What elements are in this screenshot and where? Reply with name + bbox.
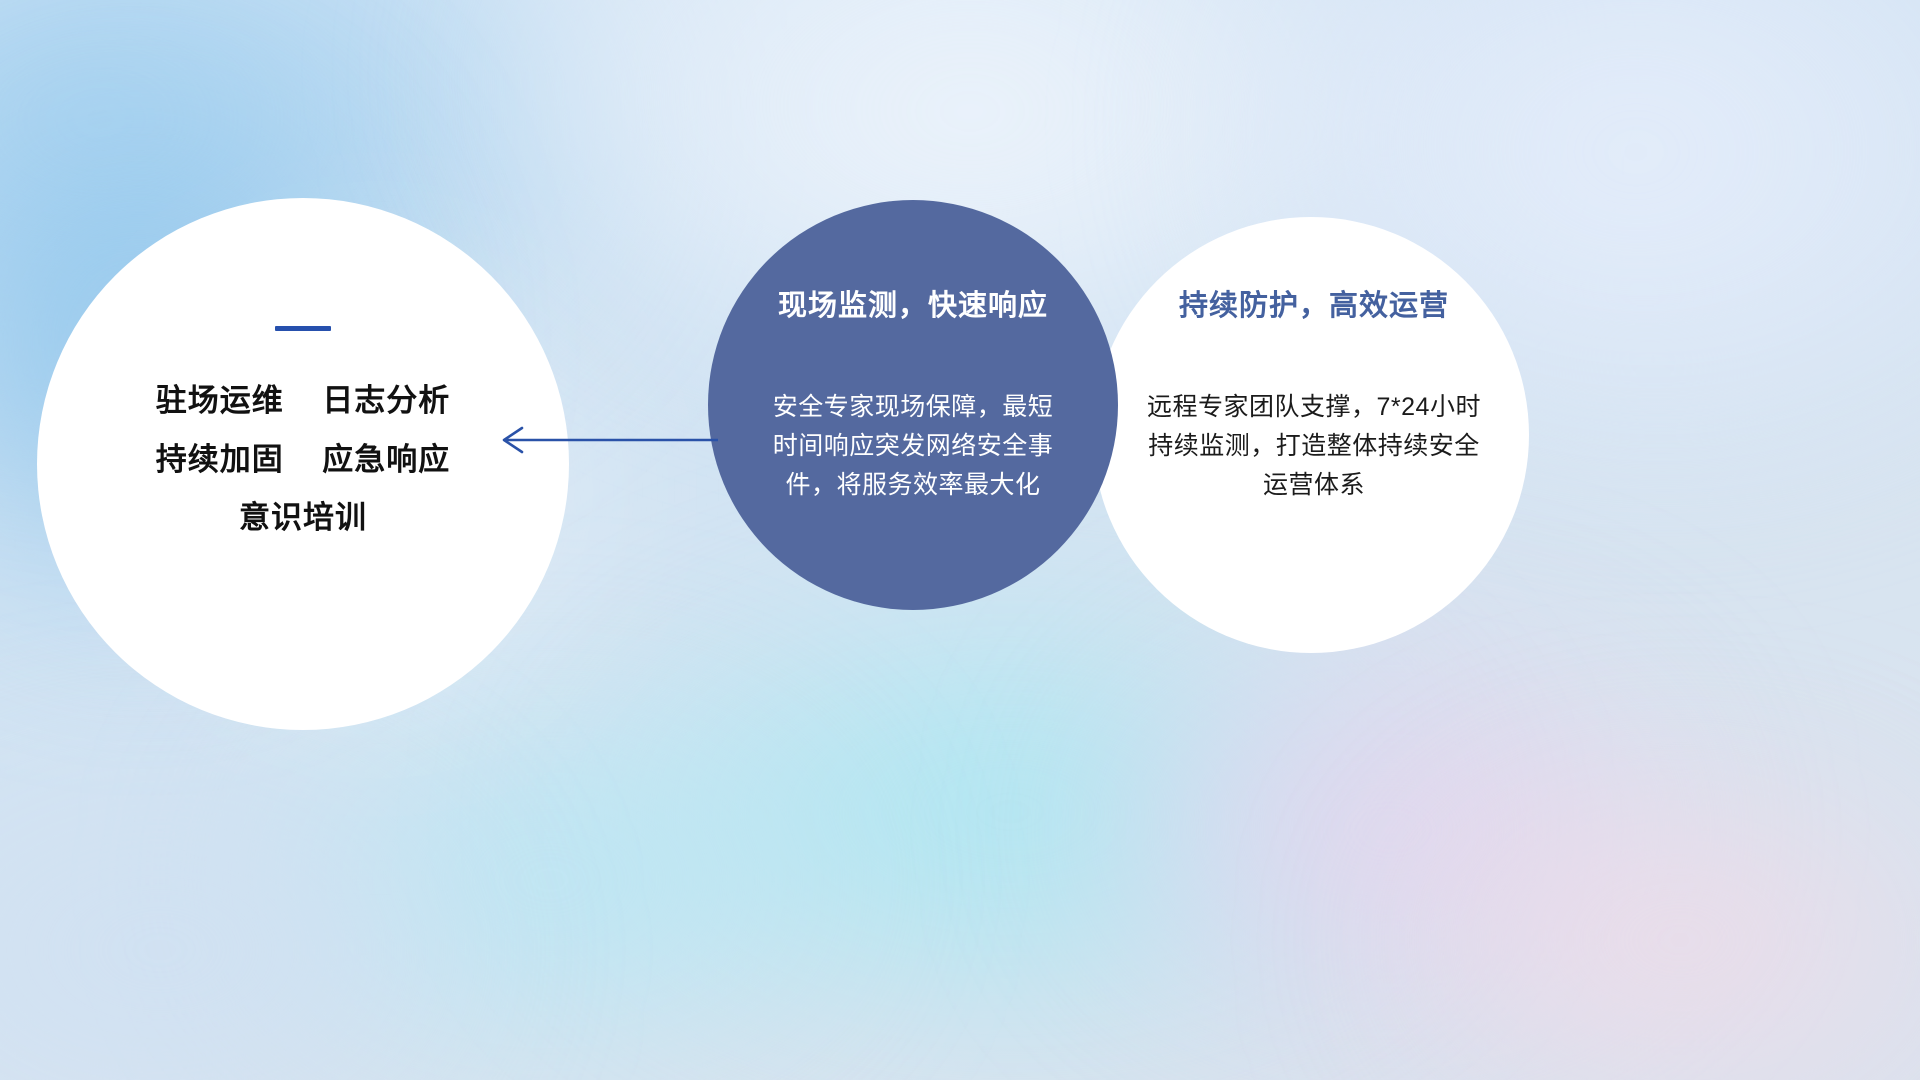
capabilities-list: 驻场运维 日志分析 持续加固 应急响应 意识培训 [156,383,450,537]
continuous-protection-content: 持续防护，高效运营 远程专家团队支撑，7*24小时持续监测，打造整体持续安全运营… [1120,288,1508,505]
capabilities-line-3: 意识培训 [239,500,367,537]
onsite-monitoring-title: 现场监测，快速响应 [778,288,1048,324]
capabilities-line-2: 持续加固 应急响应 [156,442,450,479]
continuous-protection-body: 远程专家团队支撑，7*24小时持续监测，打造整体持续安全运营体系 [1140,388,1488,505]
continuous-protection-title: 持续防护，高效运营 [1179,288,1449,324]
capabilities-line-1: 驻场运维 日志分析 [156,383,450,420]
onsite-monitoring-content: 现场监测，快速响应 安全专家现场保障，最短时间响应突发网络安全事件，将服务效率最… [723,288,1103,505]
divider-dash-icon [275,326,331,331]
slide-canvas: 驻场运维 日志分析 持续加固 应急响应 意识培训 现场监测，快速响应 安全专家现… [0,0,1920,1080]
onsite-monitoring-body: 安全专家现场保障，最短时间响应突发网络安全事件，将服务效率最大化 [763,388,1063,505]
capabilities-circle: 驻场运维 日志分析 持续加固 应急响应 意识培训 [37,198,569,730]
leftward-arrow-icon [492,418,722,462]
